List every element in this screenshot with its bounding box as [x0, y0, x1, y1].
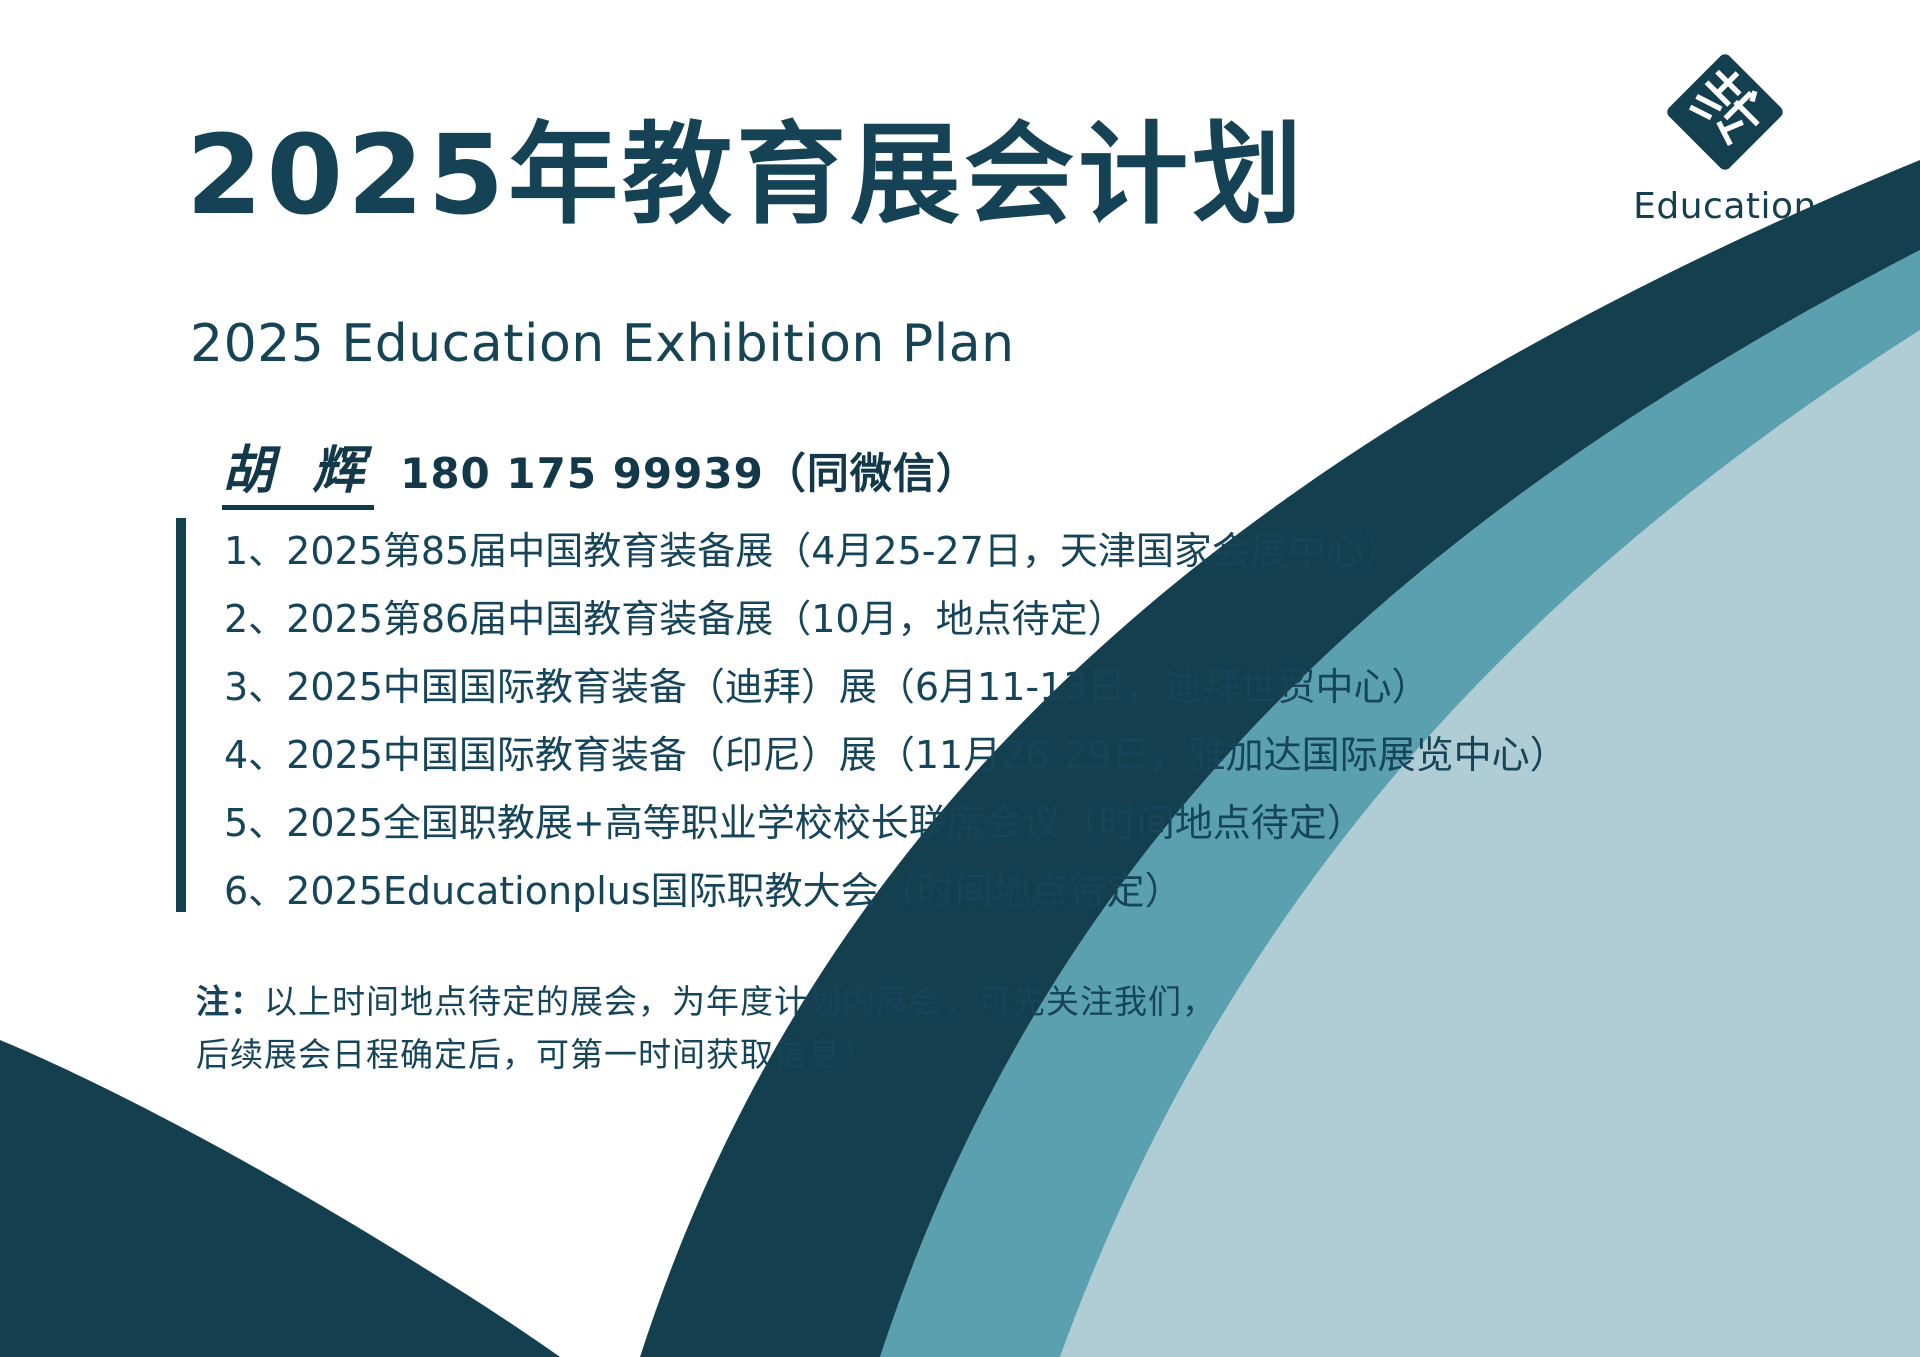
poster-canvas: Education 2025年教育展会计划 2025 Education Exh… — [0, 0, 1920, 1357]
contact-phone: 180 175 99939（同微信） — [400, 440, 979, 501]
wave-dark-teal-left-upper — [0, 1040, 560, 1357]
page-subtitle: 2025 Education Exhibition Plan — [190, 318, 1015, 370]
footnote-line-2: 后续展会日程确定后，可第一时间获取信息！ — [196, 1028, 1216, 1081]
contact-name: 胡 辉 — [222, 428, 374, 510]
list-accent-bar — [176, 518, 186, 912]
exhibition-list: 1、2025第85届中国教育装备展（4月25-27日，天津国家会展中心） 2、2… — [186, 518, 1568, 926]
education-seal-icon — [1661, 48, 1789, 176]
footnote-line-1-text: 以上时间地点待定的展会，为年度计划内展会，可先关注我们， — [264, 982, 1216, 1021]
list-item: 3、2025中国国际教育装备（迪拜）展（6月11-13日，迪拜世贸中心） — [224, 654, 1568, 722]
list-item: 1、2025第85届中国教育装备展（4月25-27日，天津国家会展中心） — [224, 518, 1568, 586]
contact-row: 胡 辉 180 175 99939（同微信） — [222, 428, 979, 510]
list-item: 6、2025Educationplus国际职教大会（时间地点待定） — [224, 858, 1568, 926]
footnote: 注：以上时间地点待定的展会，为年度计划内展会，可先关注我们， 后续展会日程确定后… — [196, 975, 1216, 1082]
exhibition-list-block: 1、2025第85届中国教育装备展（4月25-27日，天津国家会展中心） 2、2… — [176, 518, 1568, 926]
footnote-line-1: 注：以上时间地点待定的展会，为年度计划内展会，可先关注我们， — [196, 975, 1216, 1028]
list-item: 2、2025第86届中国教育装备展（10月，地点待定） — [224, 586, 1568, 654]
page-title: 2025年教育展会计划 — [186, 120, 1306, 230]
list-item: 5、2025全国职教展+高等职业学校校长联席会议（时间地点待定） — [224, 790, 1568, 858]
brand-logo: Education — [1610, 48, 1840, 227]
logo-wordmark: Education — [1610, 187, 1840, 227]
footnote-label: 注： — [196, 982, 264, 1021]
list-item: 4、2025中国国际教育装备（印尼）展（11月26-29日，雅加达国际展览中心） — [224, 722, 1568, 790]
